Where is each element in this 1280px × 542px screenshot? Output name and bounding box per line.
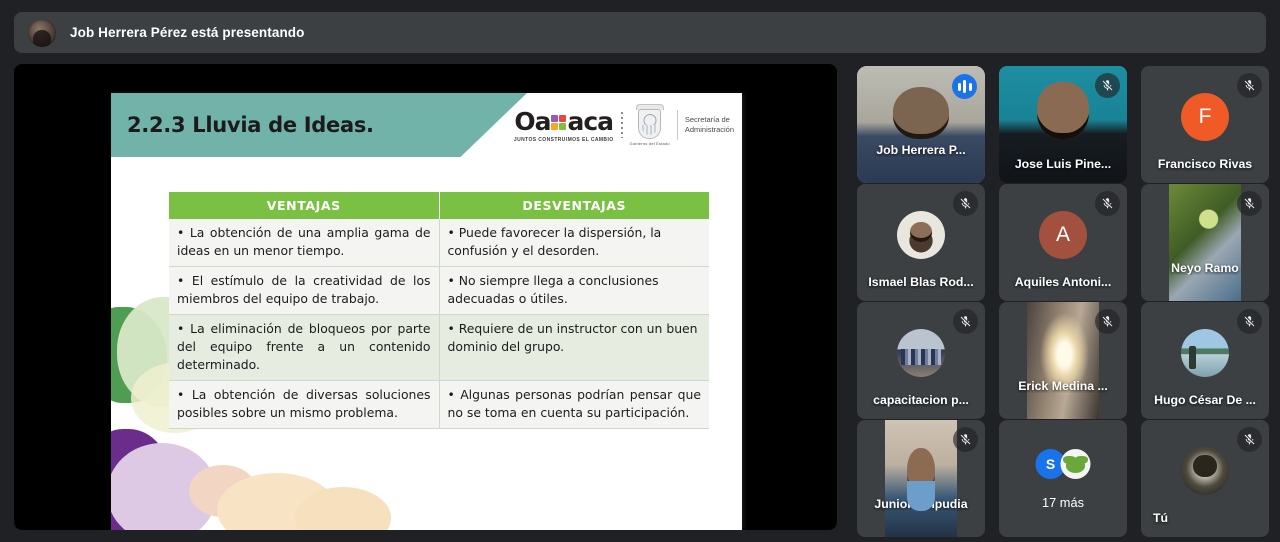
participant-video	[1169, 184, 1241, 301]
avatar: F	[1181, 93, 1229, 141]
participant-tile-hugo-cesar[interactable]: Hugo César De ...	[1141, 302, 1269, 419]
participant-name: Francisco Rivas	[1141, 157, 1269, 171]
oaxaca-logo: Oa aca JUNTOS CONSTRUIMOS EL CAMBIO	[514, 107, 614, 143]
participant-tile-neyo-ramo[interactable]: Neyo Ramo	[1141, 184, 1269, 301]
table-header-desventajas: DESVENTAJAS	[439, 192, 709, 219]
mic-muted-icon	[1095, 191, 1120, 216]
participant-name: Tú	[1141, 511, 1269, 525]
logo-divider	[677, 110, 678, 140]
avatar	[897, 329, 945, 377]
secretary-label: Secretaría de Administración	[685, 115, 734, 135]
slide-body: VENTAJAS DESVENTAJAS • La obtención de u…	[111, 157, 742, 530]
participant-tile-junior-ampudia[interactable]: Junior Ampudia	[857, 420, 985, 537]
participant-tile-erick-medina[interactable]: Erick Medina ...	[999, 302, 1127, 419]
cell-desventaja: • No siempre llega a conclusiones adecua…	[439, 266, 709, 314]
avatar	[1181, 447, 1229, 495]
table-row: • La obtención de diversas soluciones po…	[169, 380, 709, 428]
cell-desventaja: • Requiere de un instructor con un buen …	[439, 314, 709, 380]
cell-desventaja: • Puede favorecer la dispersión, la conf…	[439, 219, 709, 266]
mic-muted-icon	[1095, 309, 1120, 334]
cell-ventaja: • La obtención de una amplia gama de ide…	[169, 219, 439, 266]
participant-tile-self[interactable]: Tú	[1141, 420, 1269, 537]
oaxaca-logo-group: Oa aca JUNTOS CONSTRUIMOS EL CAMBIO Gobi…	[514, 101, 734, 149]
oaxaca-wordmark: Oa aca	[514, 107, 613, 136]
table-row: • El estímulo de la creatividad de los m…	[169, 266, 709, 314]
logo-dot-divider-icon	[621, 112, 623, 138]
cell-ventaja: • La obtención de diversas soluciones po…	[169, 380, 439, 428]
oaxaca-tagline: JUNTOS CONSTRUIMOS EL CAMBIO	[514, 137, 614, 143]
participant-name: Hugo César De ...	[1141, 393, 1269, 407]
participant-tile-capacitacion[interactable]: capacitacion p...	[857, 302, 985, 419]
participant-name: Neyo Ramo	[1141, 261, 1269, 275]
participant-grid: Job Herrera P... Jose Luis Pine... F Fra…	[857, 66, 1269, 536]
pros-cons-table: VENTAJAS DESVENTAJAS • La obtención de u…	[169, 192, 709, 429]
table-header-row: VENTAJAS DESVENTAJAS	[169, 192, 709, 219]
mic-muted-icon	[953, 191, 978, 216]
avatar	[1181, 329, 1229, 377]
slide-title: 2.2.3 Lluvia de Ideas.	[127, 113, 374, 137]
participant-name: capacitacion p...	[857, 393, 985, 407]
secretary-line-2: Administración	[685, 125, 734, 135]
participant-video	[1027, 302, 1099, 419]
cell-ventaja: • La eliminación de bloqueos por parte d…	[169, 314, 439, 380]
cell-desventaja: • Algunas personas podrían pensar que no…	[439, 380, 709, 428]
overflow-count-label: 17 más	[999, 495, 1127, 510]
shared-slide: 2.2.3 Lluvia de Ideas. Oa aca JUNTOS CON…	[111, 93, 742, 530]
slide-title-band: 2.2.3 Lluvia de Ideas.	[111, 93, 527, 157]
mic-muted-icon	[953, 309, 978, 334]
overflow-participants-tile[interactable]: S 17 más	[999, 420, 1127, 537]
participant-tile-francisco-rivas[interactable]: F Francisco Rivas	[1141, 66, 1269, 183]
presentation-stage[interactable]: 2.2.3 Lluvia de Ideas. Oa aca JUNTOS CON…	[14, 64, 837, 530]
crest-shield-icon	[638, 109, 661, 139]
presenter-avatar	[28, 19, 56, 47]
oaxaca-x-icon	[551, 115, 566, 130]
secretary-line-1: Secretaría de	[685, 115, 734, 125]
state-crest: Gobierno del Estado	[630, 104, 670, 146]
crest-caption: Gobierno del Estado	[630, 141, 670, 146]
table-row: • La obtención de una amplia gama de ide…	[169, 219, 709, 266]
mic-muted-icon	[1237, 73, 1262, 98]
avatar: A	[1039, 211, 1087, 259]
overflow-avatars: S	[1036, 449, 1091, 479]
slide-header: 2.2.3 Lluvia de Ideas. Oa aca JUNTOS CON…	[111, 93, 742, 157]
presenting-banner: Job Herrera Pérez está presentando	[14, 12, 1266, 53]
mic-muted-icon	[1095, 73, 1120, 98]
participant-name: Jose Luis Pine...	[999, 157, 1127, 171]
avatar	[897, 211, 945, 259]
oaxaca-word-right: aca	[567, 107, 613, 136]
meeting-window: Job Herrera Pérez está presentando 2.2.3…	[0, 0, 1280, 542]
cell-ventaja: • El estímulo de la creatividad de los m…	[169, 266, 439, 314]
audio-level-icon	[952, 74, 977, 99]
mic-muted-icon	[1237, 427, 1262, 452]
mic-muted-icon	[953, 427, 978, 452]
presenting-banner-text: Job Herrera Pérez está presentando	[70, 25, 305, 40]
participant-tile-aquiles-antonio[interactable]: A Aquiles Antoni...	[999, 184, 1127, 301]
table-header-ventajas: VENTAJAS	[169, 192, 439, 219]
participant-tile-job-herrera[interactable]: Job Herrera P...	[857, 66, 985, 183]
participant-name: Job Herrera P...	[857, 143, 985, 157]
participant-name: Erick Medina ...	[999, 379, 1127, 393]
mic-muted-icon	[1237, 191, 1262, 216]
participant-name: Aquiles Antoni...	[999, 275, 1127, 289]
mic-muted-icon	[1237, 309, 1262, 334]
participant-name: Ismael Blas Rod...	[857, 275, 985, 289]
frog-avatar-icon	[1061, 449, 1091, 479]
table-row: • La eliminación de bloqueos por parte d…	[169, 314, 709, 380]
participant-tile-ismael-blas[interactable]: Ismael Blas Rod...	[857, 184, 985, 301]
participant-video	[885, 420, 957, 537]
oaxaca-word-left: Oa	[514, 107, 550, 136]
participant-tile-jose-luis[interactable]: Jose Luis Pine...	[999, 66, 1127, 183]
